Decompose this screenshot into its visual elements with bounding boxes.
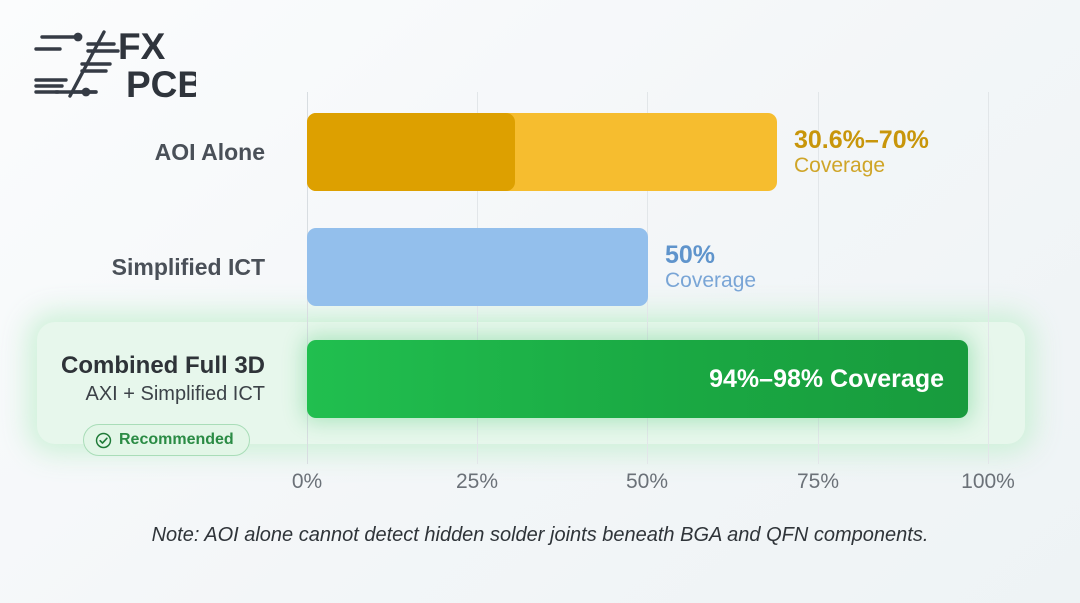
bar-category-label-simplified-ict: Simplified ICT [112,228,287,306]
category-title: AOI Alone [155,139,265,166]
category-subtitle: AXI + Simplified ICT [85,383,265,406]
bar-category-label-aoi-alone: AOI Alone [155,113,287,191]
bar-value-combined-full-3d: 94%–98% Coverage [709,340,968,418]
x-axis-tick-50: 50% [626,470,668,494]
bar-simplified-ict [307,228,648,306]
x-axis-tick-25: 25% [456,470,498,494]
recommended-badge[interactable]: Recommended [83,424,250,456]
bar-value-number: 30.6%–70% [794,126,929,154]
coverage-bar-chart: AOI Alone 30.6%–70% Coverage Simplified … [0,0,1080,603]
bar-value-aoi-alone: 30.6%–70% Coverage [777,113,929,191]
x-axis-tick-0: 0% [292,470,322,494]
bar-row-aoi-alone: AOI Alone 30.6%–70% Coverage [0,113,1080,191]
x-axis-tick-75: 75% [797,470,839,494]
check-circle-icon [95,432,112,449]
bar-value-caption: Coverage [794,154,929,179]
bar-value-caption: Coverage [665,269,756,294]
bar-value-simplified-ict: 50% Coverage [648,228,756,306]
bar-aoi-alone-low [307,113,515,191]
category-title: Combined Full 3D [61,352,265,380]
chart-footnote: Note: AOI alone cannot detect hidden sol… [0,524,1080,547]
recommended-badge-label: Recommended [119,431,234,449]
bar-category-label-combined-full-3d: Combined Full 3D AXI + Simplified ICT [61,340,287,418]
bar-row-combined-full-3d: Combined Full 3D AXI + Simplified ICT 94… [0,340,1080,418]
bar-value-number: 50% [665,241,756,269]
bar-combined-full-3d: 94%–98% Coverage [307,340,968,418]
x-axis-tick-100: 100% [961,470,1015,494]
bar-row-simplified-ict: Simplified ICT 50% Coverage [0,228,1080,306]
category-title: Simplified ICT [112,254,265,281]
